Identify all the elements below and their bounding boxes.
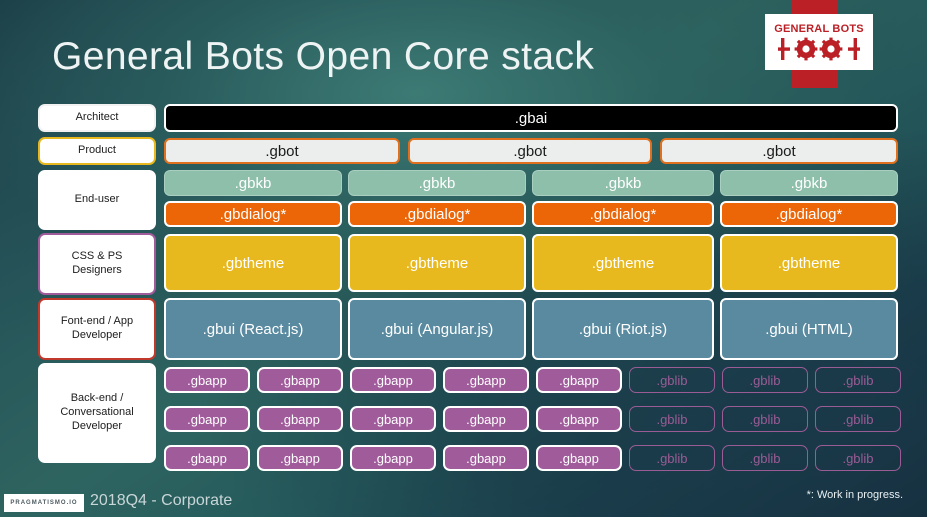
stack-cell-gbkb[interactable]: .gbkb bbox=[720, 170, 898, 196]
stack-cell-gbapp[interactable]: .gbapp bbox=[536, 445, 622, 471]
stack-cell-gbapp[interactable]: .gbapp bbox=[350, 445, 436, 471]
stack-cell-label: .gbdialog* bbox=[220, 206, 287, 223]
stack-cell-gblib[interactable]: .gblib bbox=[722, 445, 808, 471]
stack-cell-label: .gbapp bbox=[559, 412, 599, 427]
stack-cell-label: .gbui (Angular.js) bbox=[381, 321, 494, 338]
stack-cell-label: .gbot bbox=[513, 143, 546, 160]
stack-cell-gbtheme[interactable]: .gbtheme bbox=[348, 234, 526, 292]
stack-cell-gbdialog[interactable]: .gbdialog* bbox=[348, 201, 526, 227]
stack-cell-gbot[interactable]: .gbot bbox=[660, 138, 898, 164]
stack-cell-label: .gbot bbox=[762, 143, 795, 160]
logo-wordmark: GENERAL BOTS bbox=[774, 23, 864, 35]
stack-cell-label: .gbapp bbox=[280, 451, 320, 466]
stack-cell-gbapp[interactable]: .gbapp bbox=[443, 445, 529, 471]
stack-cell-label: .gbapp bbox=[187, 451, 227, 466]
pragmatismo-badge-label: PRAGMATISMO.IO bbox=[10, 500, 77, 506]
sidebar-role-label: Architect bbox=[76, 111, 119, 125]
stack-cell-gbuiangularjs[interactable]: .gbui (Angular.js) bbox=[348, 298, 526, 360]
role-sidebar: ArchitectProductEnd-userCSS & PSDesigner… bbox=[38, 100, 156, 476]
stack-cell-gbapp[interactable]: .gbapp bbox=[257, 367, 343, 393]
sidebar-role-3[interactable]: CSS & PSDesigners bbox=[38, 233, 156, 295]
stack-cell-gbkb[interactable]: .gbkb bbox=[348, 170, 526, 196]
stack-diagram: ArchitectProductEnd-userCSS & PSDesigner… bbox=[0, 100, 927, 480]
stack-cell-label: .gbapp bbox=[466, 451, 506, 466]
stack-cell-label: .gbkb bbox=[235, 175, 272, 192]
stack-cell-label: .gbapp bbox=[187, 373, 227, 388]
stack-cell-label: .gblib bbox=[656, 412, 687, 427]
gbtheme-row: .gbtheme.gbtheme.gbtheme.gbtheme bbox=[164, 234, 898, 292]
stack-cell-gbot[interactable]: .gbot bbox=[164, 138, 400, 164]
gbkb-row: .gbkb.gbkb.gbkb.gbkb bbox=[164, 170, 898, 196]
stack-cell-label: .gblib bbox=[656, 373, 687, 388]
gears-logo-icon bbox=[778, 36, 860, 62]
gbapp-gblib-row-1: .gbapp.gbapp.gbapp.gbapp.gbapp.gblib.gbl… bbox=[164, 367, 898, 393]
stack-cell-gbapp[interactable]: .gbapp bbox=[350, 367, 436, 393]
sidebar-role-0[interactable]: Architect bbox=[38, 104, 156, 132]
stack-cell-label: .gblib bbox=[656, 451, 687, 466]
stack-cell-label: .gbapp bbox=[280, 412, 320, 427]
gbapp-gblib-row-3: .gbapp.gbapp.gbapp.gbapp.gbapp.gblib.gbl… bbox=[164, 445, 898, 471]
stack-cell-gblib[interactable]: .gblib bbox=[722, 367, 808, 393]
gbapp-gblib-row-2: .gbapp.gbapp.gbapp.gbapp.gbapp.gblib.gbl… bbox=[164, 406, 898, 432]
stack-cell-label: .gbtheme bbox=[778, 255, 841, 272]
stack-cell-label: .gbapp bbox=[280, 373, 320, 388]
stack-cell-label: .gbdialog* bbox=[404, 206, 471, 223]
stack-cell-gbot[interactable]: .gbot bbox=[408, 138, 652, 164]
stack-cell-label: .gblib bbox=[842, 412, 873, 427]
stack-cell-label: .gbui (React.js) bbox=[203, 321, 304, 338]
stack-cell-label: .gbai bbox=[515, 110, 548, 127]
stack-cell-gblib[interactable]: .gblib bbox=[815, 406, 901, 432]
stack-cell-gblib[interactable]: .gblib bbox=[629, 406, 715, 432]
gbot-row: .gbot.gbot.gbot bbox=[164, 138, 898, 164]
stack-cell-gbapp[interactable]: .gbapp bbox=[536, 406, 622, 432]
stack-cell-gbapp[interactable]: .gbapp bbox=[257, 406, 343, 432]
stack-cell-label: .gbdialog* bbox=[776, 206, 843, 223]
stack-cell-gbapp[interactable]: .gbapp bbox=[443, 367, 529, 393]
stack-cell-gblib[interactable]: .gblib bbox=[815, 367, 901, 393]
stack-cell-gblib[interactable]: .gblib bbox=[815, 445, 901, 471]
general-bots-logo: GENERAL BOTS bbox=[765, 14, 873, 70]
sidebar-role-5[interactable]: Back-end /ConversationalDeveloper bbox=[38, 363, 156, 463]
stack-cell-label: .gbapp bbox=[466, 412, 506, 427]
layer-stack: .gbai.gbot.gbot.gbot.gbkb.gbkb.gbkb.gbkb… bbox=[164, 100, 898, 476]
stack-cell-gbai[interactable]: .gbai bbox=[164, 104, 898, 132]
stack-cell-label: .gbtheme bbox=[406, 255, 469, 272]
stack-cell-label: .gbkb bbox=[791, 175, 828, 192]
page-title: General Bots Open Core stack bbox=[52, 35, 594, 79]
stack-cell-gbapp[interactable]: .gbapp bbox=[536, 367, 622, 393]
stack-cell-label: .gbapp bbox=[373, 412, 413, 427]
stack-cell-gbtheme[interactable]: .gbtheme bbox=[532, 234, 714, 292]
sidebar-role-label: Product bbox=[78, 144, 116, 158]
stack-cell-gbuihtml[interactable]: .gbui (HTML) bbox=[720, 298, 898, 360]
footer-note: *: Work in progress. bbox=[807, 489, 903, 501]
stack-cell-label: .gbdialog* bbox=[590, 206, 657, 223]
sidebar-role-label: Font-end / AppDeveloper bbox=[61, 315, 133, 343]
stack-cell-gbdialog[interactable]: .gbdialog* bbox=[532, 201, 714, 227]
stack-cell-gbtheme[interactable]: .gbtheme bbox=[164, 234, 342, 292]
stack-cell-label: .gbkb bbox=[419, 175, 456, 192]
stack-cell-label: .gbot bbox=[265, 143, 298, 160]
sidebar-role-label: End-user bbox=[75, 193, 120, 207]
slide-canvas: GENERAL BOTS bbox=[0, 0, 927, 517]
stack-cell-label: .gblib bbox=[749, 373, 780, 388]
stack-cell-gbdialog[interactable]: .gbdialog* bbox=[720, 201, 898, 227]
stack-cell-label: .gbapp bbox=[373, 373, 413, 388]
stack-cell-label: .gbtheme bbox=[592, 255, 655, 272]
sidebar-role-4[interactable]: Font-end / AppDeveloper bbox=[38, 298, 156, 360]
stack-cell-label: .gblib bbox=[842, 373, 873, 388]
stack-cell-gbapp[interactable]: .gbapp bbox=[443, 406, 529, 432]
stack-cell-gbuireactjs[interactable]: .gbui (React.js) bbox=[164, 298, 342, 360]
stack-cell-gbkb[interactable]: .gbkb bbox=[532, 170, 714, 196]
stack-cell-gbapp[interactable]: .gbapp bbox=[164, 445, 250, 471]
stack-cell-gblib[interactable]: .gblib bbox=[629, 445, 715, 471]
stack-cell-label: .gbapp bbox=[466, 373, 506, 388]
sidebar-role-2[interactable]: End-user bbox=[38, 170, 156, 230]
pragmatismo-badge: PRAGMATISMO.IO bbox=[4, 494, 84, 512]
stack-cell-label: .gblib bbox=[842, 451, 873, 466]
stack-cell-gbapp[interactable]: .gbapp bbox=[164, 367, 250, 393]
sidebar-role-label: CSS & PSDesigners bbox=[72, 250, 123, 278]
stack-cell-label: .gbui (Riot.js) bbox=[579, 321, 667, 338]
gbui-row: .gbui (React.js).gbui (Angular.js).gbui … bbox=[164, 298, 898, 360]
footer-quarter-label: 2018Q4 - Corporate bbox=[90, 492, 232, 510]
sidebar-role-1[interactable]: Product bbox=[38, 137, 156, 165]
stack-cell-gblib[interactable]: .gblib bbox=[629, 367, 715, 393]
stack-cell-label: .gblib bbox=[749, 412, 780, 427]
gbai-row: .gbai bbox=[164, 104, 898, 132]
gbdialog-row: .gbdialog*.gbdialog*.gbdialog*.gbdialog* bbox=[164, 201, 898, 227]
stack-cell-gbtheme[interactable]: .gbtheme bbox=[720, 234, 898, 292]
stack-cell-label: .gbapp bbox=[373, 451, 413, 466]
stack-cell-label: .gbapp bbox=[559, 451, 599, 466]
stack-cell-label: .gbapp bbox=[559, 373, 599, 388]
stack-cell-label: .gblib bbox=[749, 451, 780, 466]
stack-cell-gbuiriotjs[interactable]: .gbui (Riot.js) bbox=[532, 298, 714, 360]
stack-cell-label: .gbui (HTML) bbox=[765, 321, 853, 338]
stack-cell-label: .gbapp bbox=[187, 412, 227, 427]
stack-cell-gbkb[interactable]: .gbkb bbox=[164, 170, 342, 196]
stack-cell-gblib[interactable]: .gblib bbox=[722, 406, 808, 432]
stack-cell-label: .gbtheme bbox=[222, 255, 285, 272]
stack-cell-gbapp[interactable]: .gbapp bbox=[257, 445, 343, 471]
stack-cell-gbdialog[interactable]: .gbdialog* bbox=[164, 201, 342, 227]
stack-cell-gbapp[interactable]: .gbapp bbox=[350, 406, 436, 432]
sidebar-role-label: Back-end /ConversationalDeveloper bbox=[60, 392, 133, 433]
stack-cell-gbapp[interactable]: .gbapp bbox=[164, 406, 250, 432]
stack-cell-label: .gbkb bbox=[605, 175, 642, 192]
